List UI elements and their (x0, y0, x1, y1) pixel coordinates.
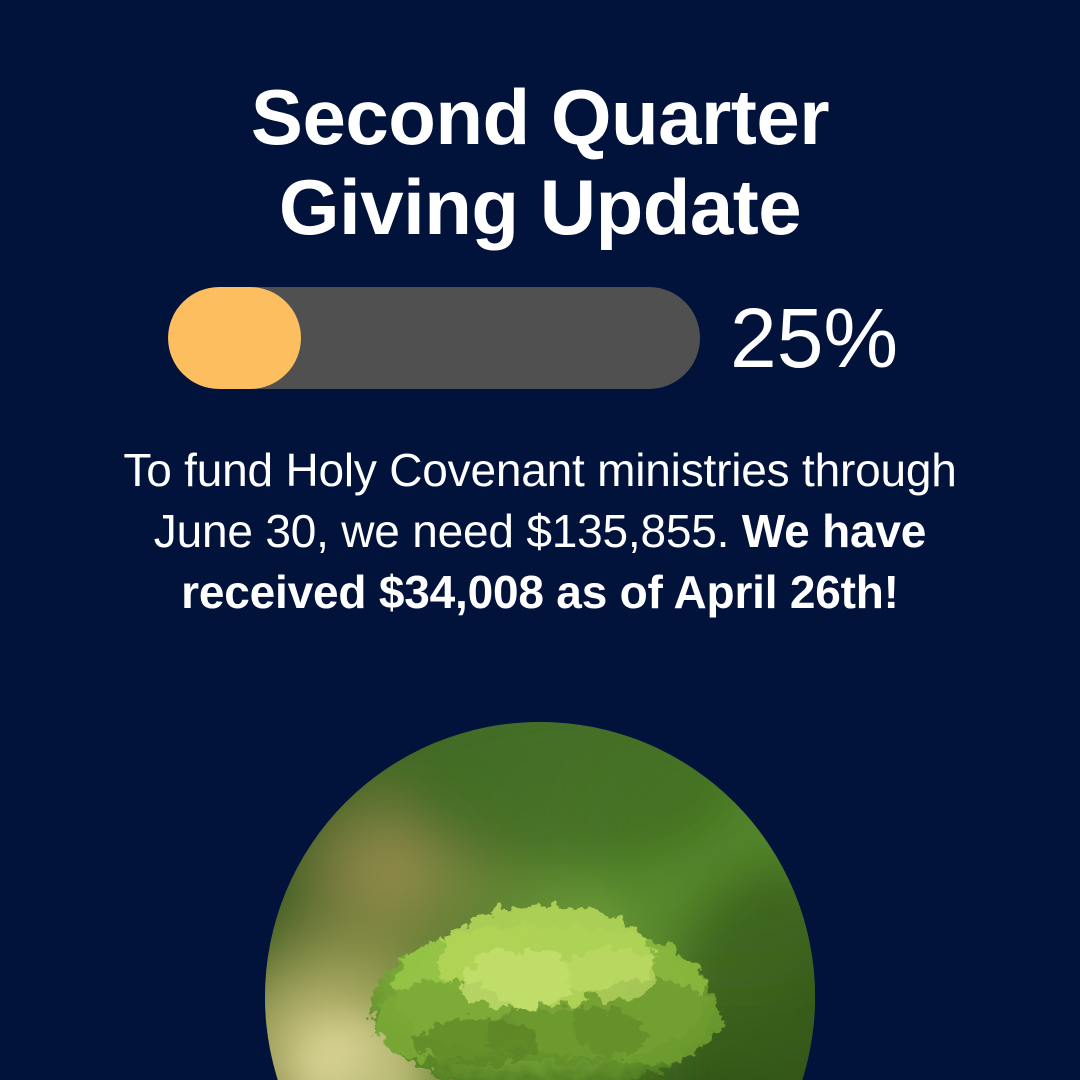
title-line-2: Giving Update (0, 162, 1080, 252)
progress-track (168, 287, 700, 389)
giving-update-poster: Second Quarter Giving Update 25% To fund… (0, 0, 1080, 1080)
body-copy: To fund Holy Covenant ministries through… (90, 440, 990, 623)
title-line-1: Second Quarter (0, 72, 1080, 162)
giving-progress: 25% (168, 287, 948, 389)
progress-percent-label: 25% (730, 296, 898, 380)
tree-on-coins-illustration (265, 722, 815, 1080)
page-title: Second Quarter Giving Update (0, 72, 1080, 252)
tree-on-coins-photo (265, 722, 815, 1080)
progress-fill (168, 287, 301, 389)
